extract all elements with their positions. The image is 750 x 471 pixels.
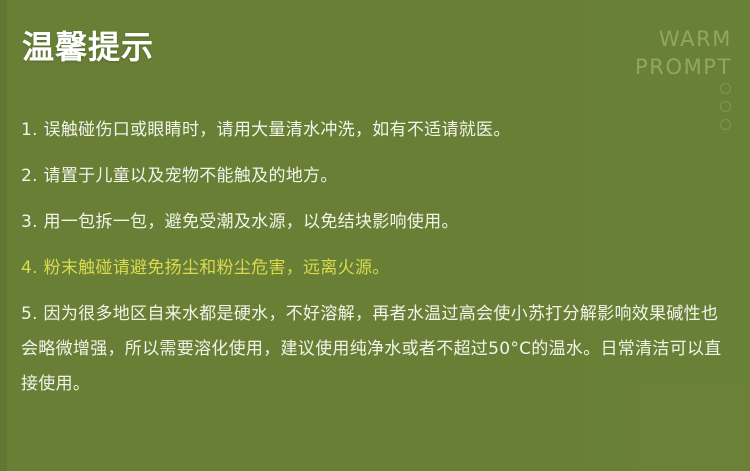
list-item-highlighted: 4. 粉末触碰请避免扬尘和粉尘危害，远离火源。: [21, 251, 730, 286]
watermark-line-1: WARM: [635, 26, 732, 54]
watermark-line-2: PROMPT: [635, 54, 732, 82]
list-item: 1. 误触碰伤口或眼睛时，请用大量清水冲洗，如有不适请就医。: [21, 113, 730, 148]
list-item-text: 用一包拆一包，避免受潮及水源，以免结块影响使用。: [44, 212, 459, 232]
warm-prompt-card: 温馨提示 WARM PROMPT 1. 误触碰伤口或眼睛时，请用大量清水冲洗，如…: [0, 0, 750, 471]
circle-icon-2: [720, 101, 731, 112]
circle-icon-1: [720, 83, 731, 94]
list-item-index: 4.: [21, 258, 38, 278]
list-item-index: 5.: [21, 304, 38, 324]
tips-list: 1. 误触碰伤口或眼睛时，请用大量清水冲洗，如有不适请就医。 2. 请置于儿童以…: [21, 113, 730, 402]
list-item: 5. 因为很多地区自来水都是硬水，不好溶解，再者水温过高会使小苏打分解影响效果碱…: [21, 297, 730, 402]
list-item-index: 1.: [21, 120, 38, 140]
list-item-text: 误触碰伤口或眼睛时，请用大量清水冲洗，如有不适请就医。: [44, 120, 511, 140]
page-title: 温馨提示: [22, 28, 154, 66]
list-item-text: 请置于儿童以及宠物不能触及的地方。: [44, 166, 338, 186]
list-item-index: 3.: [21, 212, 38, 232]
watermark-text: WARM PROMPT: [635, 26, 732, 81]
list-item: 3. 用一包拆一包，避免受潮及水源，以免结块影响使用。: [21, 205, 730, 240]
list-item-text: 因为很多地区自来水都是硬水，不好溶解，再者水温过高会使小苏打分解影响效果碱性也会…: [21, 304, 722, 394]
list-item: 2. 请置于儿童以及宠物不能触及的地方。: [21, 159, 730, 194]
left-edge-band: [0, 0, 7, 471]
list-item-text: 粉末触碰请避免扬尘和粉尘危害，远离火源。: [44, 258, 390, 278]
list-item-index: 2.: [21, 166, 38, 186]
